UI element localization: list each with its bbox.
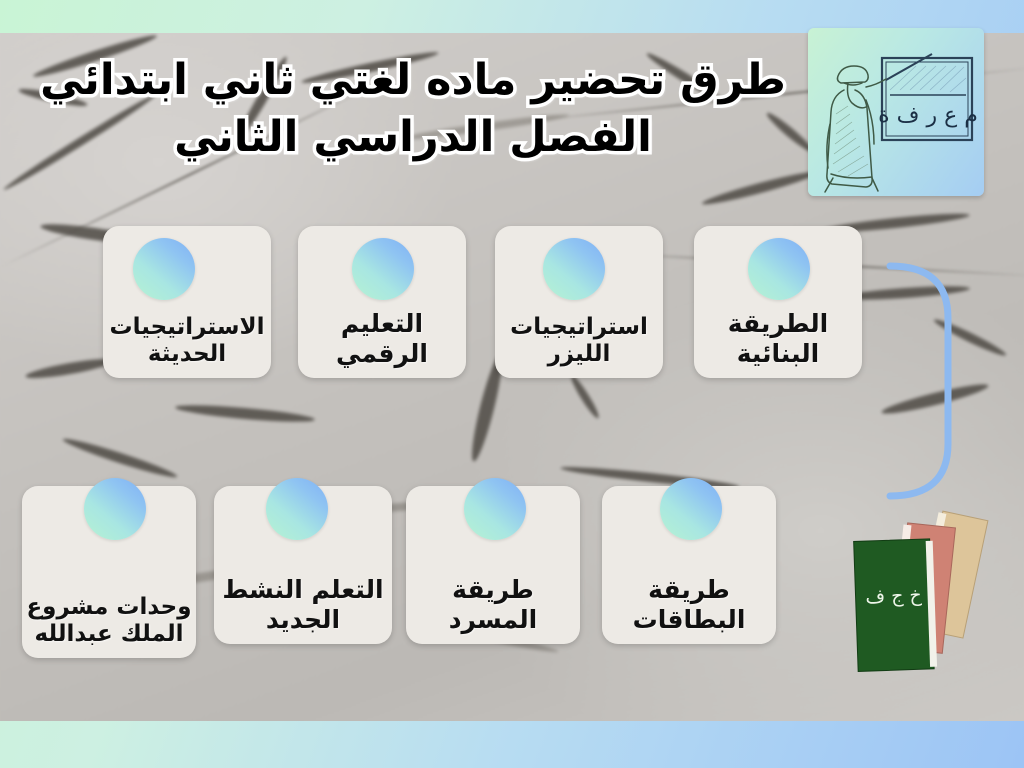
teacher-illustration: م ع ر ف ة — [808, 28, 984, 196]
teacher-sketch-icon: م ع ر ف ة — [808, 28, 984, 196]
node-digital-education[interactable]: التعليم الرقمي — [298, 226, 466, 378]
node-label: استراتيجيات الليزر — [499, 314, 659, 368]
node-laser-strategies[interactable]: استراتيجيات الليزر — [495, 226, 663, 378]
page-title: طرق تحضير ماده لغتي ثاني ابتدائي الفصل ا… — [18, 52, 808, 166]
stack-of-books-icon: خ ج ف — [838, 498, 1014, 674]
node-king-abdullah-project-units[interactable]: وحدات مشروع الملك عبدالله — [22, 486, 196, 658]
node-bullet-icon — [133, 238, 195, 300]
node-label: التعليم الرقمي — [302, 309, 462, 368]
books-illustration: خ ج ف — [838, 498, 1014, 674]
node-glossary-method[interactable]: طريقة المسرد — [406, 486, 580, 644]
node-bullet-icon — [84, 478, 146, 540]
node-bullet-icon — [660, 478, 722, 540]
node-label: طريقة البطاقات — [606, 575, 772, 634]
node-bullet-icon — [266, 478, 328, 540]
node-new-active-learning[interactable]: التعلم النشط الجديد — [214, 486, 392, 644]
infographic-poster: طرق تحضير ماده لغتي ثاني ابتدائي الفصل ا… — [0, 0, 1024, 768]
node-label: وحدات مشروع الملك عبدالله — [26, 594, 192, 648]
node-bullet-icon — [352, 238, 414, 300]
node-modern-strategies[interactable]: الاستراتيجيات الحديثة — [103, 226, 271, 378]
node-constructivist-method[interactable]: الطريقة البنائية — [694, 226, 862, 378]
node-bullet-icon — [543, 238, 605, 300]
node-label: الاستراتيجيات الحديثة — [107, 314, 267, 368]
svg-text:م ع ر ف ة: م ع ر ف ة — [878, 103, 978, 128]
node-bullet-icon — [464, 478, 526, 540]
node-bullet-icon — [748, 238, 810, 300]
node-label: التعلم النشط الجديد — [218, 575, 388, 634]
node-cards-method[interactable]: طريقة البطاقات — [602, 486, 776, 644]
node-label: طريقة المسرد — [410, 575, 576, 634]
node-label: الطريقة البنائية — [698, 309, 858, 368]
svg-text:خ ج ف: خ ج ف — [865, 584, 923, 608]
